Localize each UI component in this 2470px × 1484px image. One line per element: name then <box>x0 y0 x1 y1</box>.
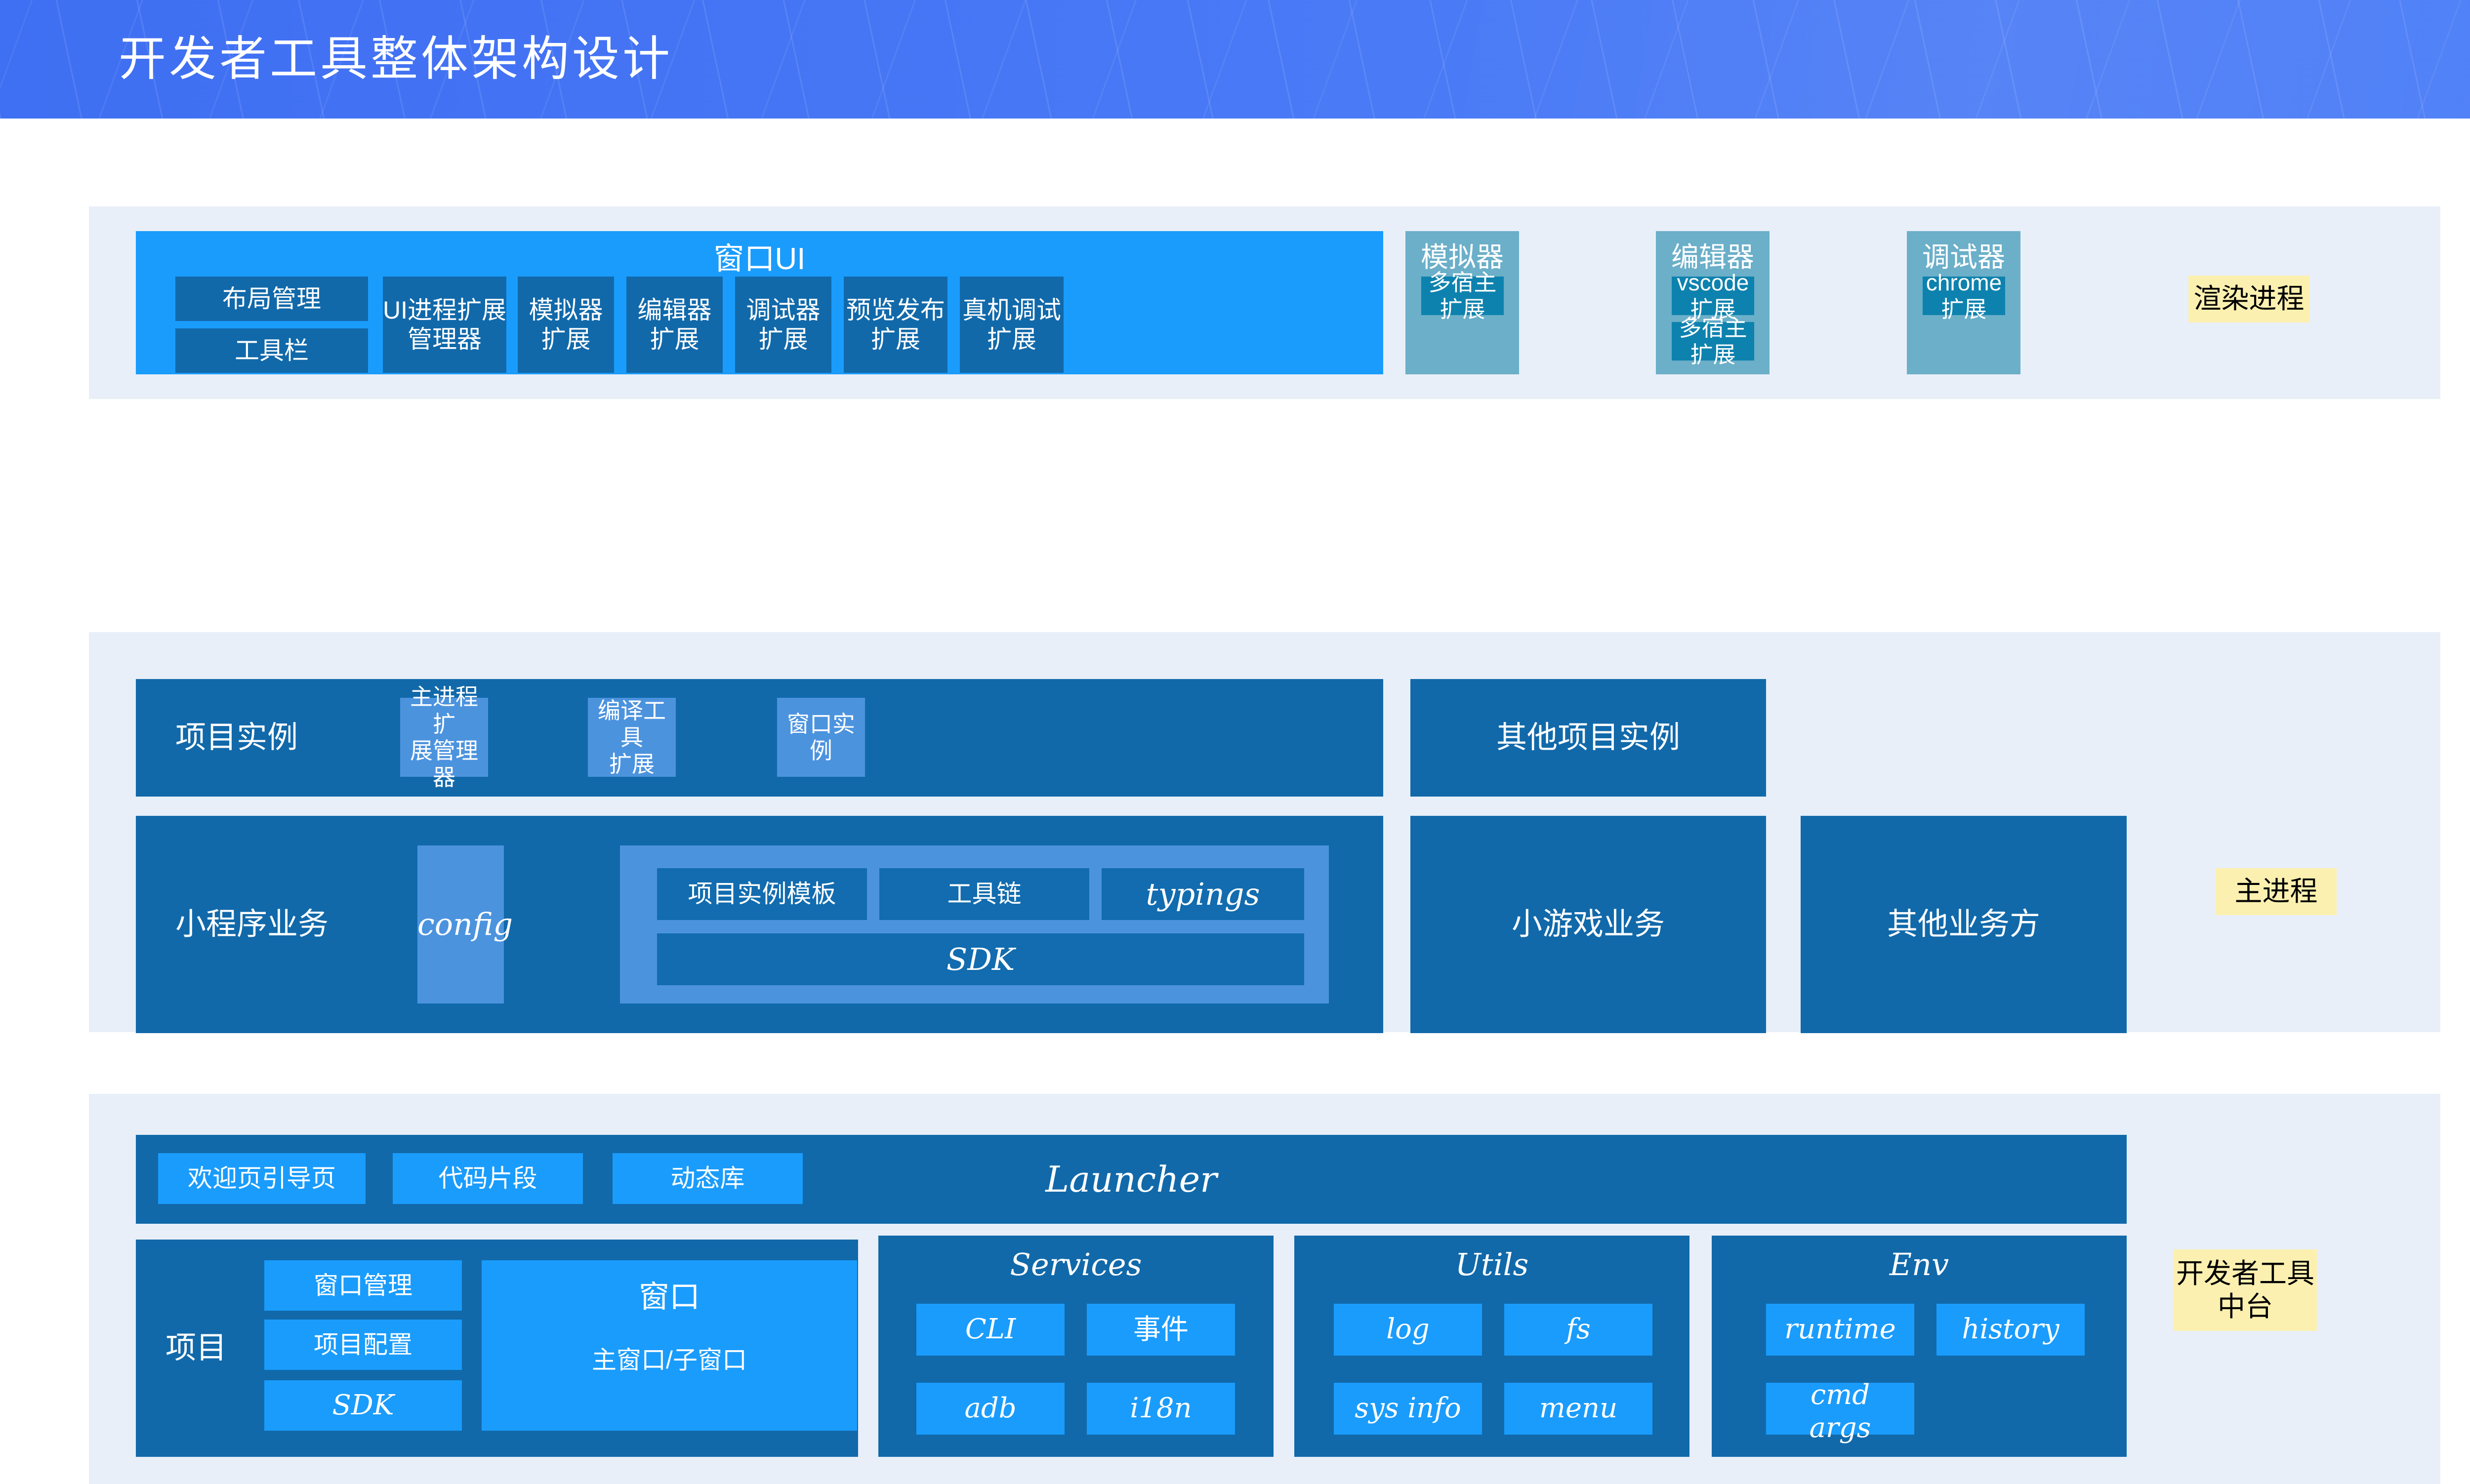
debugger-extension-box[interactable]: 调试器 扩展 <box>735 277 831 373</box>
device-debug-extension-label: 真机调试 扩展 <box>960 296 1064 354</box>
miniprogram-business-title: 小程序业务 <box>175 906 329 942</box>
sdk-box[interactable]: SDK <box>657 933 1304 985</box>
vscode-extension-box[interactable]: vscode扩展 <box>1672 277 1754 315</box>
project-sdk-label: SDK <box>264 1389 462 1422</box>
toolchain-box[interactable]: 工具链 <box>879 868 1089 920</box>
history-label: history <box>1936 1313 2085 1346</box>
env-title: Env <box>1712 1246 2127 1283</box>
editor-multihost-extension-label: 多宿主扩展 <box>1672 315 1754 368</box>
project-title: 项目 <box>165 1330 227 1366</box>
menu-label: menu <box>1504 1392 1652 1425</box>
toolchain-label: 工具链 <box>879 880 1089 909</box>
event-label: 事件 <box>1087 1313 1235 1346</box>
adb-label: adb <box>916 1392 1065 1425</box>
window-manager-label: 窗口管理 <box>264 1271 462 1300</box>
i18n-label: i18n <box>1087 1392 1235 1425</box>
simulator-extension-box[interactable]: 模拟器 扩展 <box>518 277 614 373</box>
simulator-extension-label: 模拟器 扩展 <box>518 296 614 354</box>
window-manager-box[interactable]: 窗口管理 <box>264 1260 462 1311</box>
utils-title: Utils <box>1294 1246 1689 1283</box>
device-debug-extension-box[interactable]: 真机调试 扩展 <box>960 277 1064 373</box>
main-process-note: 主进程 <box>2216 868 2337 915</box>
ui-process-extension-manager-label: UI进程扩展 管理器 <box>383 296 506 354</box>
sys-info-label: sys info <box>1334 1392 1482 1425</box>
chrome-extension-label: chrome扩展 <box>1923 269 2005 323</box>
other-project-instance-box[interactable]: 其他项目实例 <box>1410 679 1766 797</box>
typings-label: typings <box>1102 876 1304 912</box>
cli-label: CLI <box>916 1313 1065 1346</box>
renderer-process-note: 渲染进程 <box>2188 276 2309 322</box>
runtime-label: runtime <box>1766 1313 1914 1346</box>
code-snippet-label: 代码片段 <box>393 1164 583 1193</box>
history-box[interactable]: history <box>1936 1304 2085 1356</box>
cmd-args-box[interactable]: cmd args <box>1766 1383 1914 1435</box>
event-box[interactable]: 事件 <box>1087 1304 1235 1356</box>
project-instance-title: 项目实例 <box>175 720 298 756</box>
other-business-box[interactable]: 其他业务方 <box>1801 816 2127 1033</box>
window-title: 窗口 <box>482 1279 857 1315</box>
log-label: log <box>1334 1313 1482 1346</box>
dynamic-library-label: 动态库 <box>613 1164 803 1193</box>
preview-publish-extension-box[interactable]: 预览发布 扩展 <box>844 277 947 373</box>
window-ui-title: 窗口UI <box>136 241 1383 277</box>
dynamic-library-box[interactable]: 动态库 <box>613 1153 803 1204</box>
simulator-multihost-extension-label: 多宿主扩展 <box>1421 269 1504 323</box>
minigame-business-label: 小游戏业务 <box>1410 906 1766 942</box>
project-sdk-box[interactable]: SDK <box>264 1380 462 1431</box>
editor-extension-box[interactable]: 编辑器 扩展 <box>626 277 723 373</box>
services-title: Services <box>878 1246 1274 1283</box>
cmd-args-label: cmd args <box>1766 1379 1914 1444</box>
devtools-platform-note-label: 开发者工具 中台 <box>2174 1257 2317 1323</box>
editor-extension-label: 编辑器 扩展 <box>626 296 723 354</box>
other-project-instance-label: 其他项目实例 <box>1410 720 1766 756</box>
cli-box[interactable]: CLI <box>916 1304 1065 1356</box>
config-box[interactable]: config <box>417 845 504 1003</box>
sys-info-box[interactable]: sys info <box>1334 1383 1482 1435</box>
window-instance-box[interactable]: 窗口实例 <box>777 698 865 777</box>
page-banner: 开发者工具整体架构设计 <box>0 0 2470 119</box>
devtools-platform-note: 开发者工具 中台 <box>2174 1249 2317 1331</box>
adb-box[interactable]: adb <box>916 1383 1065 1435</box>
simulator-multihost-extension-box[interactable]: 多宿主扩展 <box>1421 277 1504 315</box>
window-subtitle: 主窗口/子窗口 <box>482 1346 857 1375</box>
diagram-canvas: 窗口UI 布局管理 工具栏 UI进程扩展 管理器 模拟器 扩展 编辑器 扩展 调… <box>0 119 2470 1422</box>
debugger-extension-label: 调试器 扩展 <box>735 296 831 354</box>
preview-publish-extension-label: 预览发布 扩展 <box>844 296 947 354</box>
chrome-extension-box[interactable]: chrome扩展 <box>1923 277 2005 315</box>
welcome-guide-page-label: 欢迎页引导页 <box>158 1164 366 1193</box>
renderer-process-note-label: 渲染进程 <box>2188 282 2309 315</box>
project-instance-template-label: 项目实例模板 <box>657 880 867 909</box>
main-process-extension-manager-box[interactable]: 主进程扩 展管理器 <box>400 698 488 777</box>
project-config-box[interactable]: 项目配置 <box>264 1320 462 1370</box>
i18n-box[interactable]: i18n <box>1087 1383 1235 1435</box>
ui-process-extension-manager-box[interactable]: UI进程扩展 管理器 <box>383 277 506 373</box>
project-instance-template-box[interactable]: 项目实例模板 <box>657 868 867 920</box>
editor-multihost-extension-box[interactable]: 多宿主扩展 <box>1672 322 1754 361</box>
main-process-extension-manager-label: 主进程扩 展管理器 <box>400 683 488 791</box>
toolbar-label: 工具栏 <box>175 336 368 365</box>
window-box[interactable]: 窗口 主窗口/子窗口 <box>482 1260 857 1431</box>
main-process-note-label: 主进程 <box>2216 875 2337 908</box>
compile-tool-extension-label: 编译工具 扩展 <box>588 697 676 778</box>
runtime-box[interactable]: runtime <box>1766 1304 1914 1356</box>
log-box[interactable]: log <box>1334 1304 1482 1356</box>
page-title: 开发者工具整体架构设计 <box>0 0 2470 119</box>
toolbar-box[interactable]: 工具栏 <box>175 328 368 373</box>
layout-manager-label: 布局管理 <box>175 284 368 314</box>
fs-box[interactable]: fs <box>1504 1304 1652 1356</box>
project-config-label: 项目配置 <box>264 1330 462 1360</box>
layout-manager-box[interactable]: 布局管理 <box>175 277 368 321</box>
config-label: config <box>417 906 504 942</box>
code-snippet-box[interactable]: 代码片段 <box>393 1153 583 1204</box>
minigame-business-box[interactable]: 小游戏业务 <box>1410 816 1766 1033</box>
project-instance-panel[interactable]: 项目实例 <box>136 679 1383 797</box>
other-business-label: 其他业务方 <box>1801 906 2127 942</box>
window-instance-label: 窗口实例 <box>777 711 865 764</box>
typings-box[interactable]: typings <box>1102 868 1304 920</box>
compile-tool-extension-box[interactable]: 编译工具 扩展 <box>588 698 676 777</box>
fs-label: fs <box>1504 1313 1652 1346</box>
menu-box[interactable]: menu <box>1504 1383 1652 1435</box>
sdk-label: SDK <box>657 941 1304 977</box>
welcome-guide-page-box[interactable]: 欢迎页引导页 <box>158 1153 366 1204</box>
